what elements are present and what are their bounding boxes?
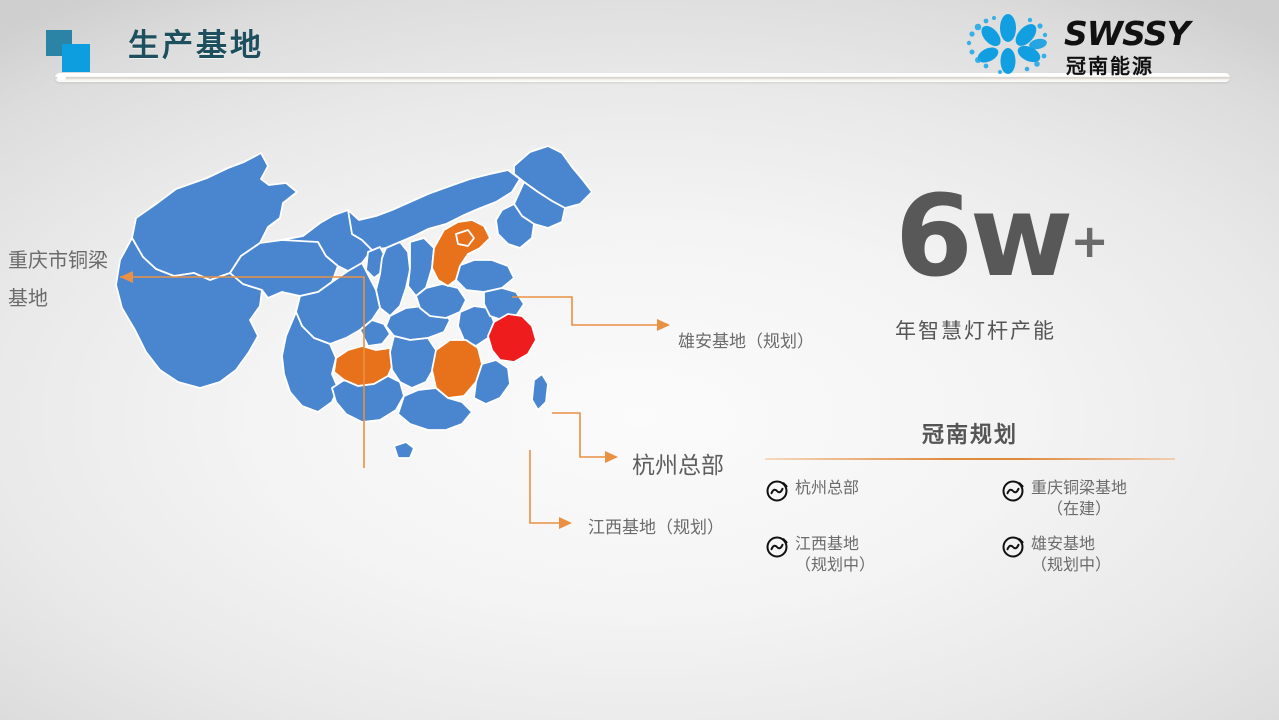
province-shandong	[456, 260, 514, 292]
legend-item-name: 江西基地	[795, 536, 859, 553]
legend-item-name: 重庆铜梁基地	[1031, 480, 1127, 497]
stat-plus-sign: +	[1070, 214, 1109, 268]
circle-wave-icon	[1001, 479, 1025, 503]
province-inner-mongolia	[348, 170, 520, 250]
circle-wave-icon	[765, 535, 789, 559]
legend-item-sub: （在建）	[1031, 499, 1127, 520]
legend-item-xiongan[interactable]: 雄安基地 （规划中）	[973, 534, 1175, 576]
legend-item-jiangxi[interactable]: 江西基地 （规划中）	[765, 534, 967, 576]
stat-number-row: 6w+	[895, 185, 1195, 293]
plan-legend-panel: 冠南规划 杭州总部 重庆铜梁基地 （在建）	[765, 420, 1175, 595]
legend-grid: 杭州总部 重庆铜梁基地 （在建） 江西基地 （规划中）	[765, 478, 1175, 576]
brand-logo: SWSSY 冠南能源	[960, 8, 1220, 80]
legend-item-text: 江西基地 （规划中）	[795, 534, 875, 576]
province-hainan	[394, 442, 414, 458]
legend-item-text: 杭州总部	[795, 478, 859, 499]
province-taiwan	[532, 374, 548, 410]
callout-label-hangzhou: 杭州总部	[632, 446, 724, 480]
stat-number: 6w	[895, 172, 1070, 302]
legend-item-text: 雄安基地 （规划中）	[1031, 534, 1111, 576]
water-droplet-flower-icon	[960, 12, 1056, 76]
legend-divider	[765, 458, 1175, 460]
legend-item-sub: （规划中）	[1031, 555, 1111, 576]
legend-item-sub: （规划中）	[795, 555, 875, 576]
legend-item-text: 重庆铜梁基地 （在建）	[1031, 478, 1127, 520]
legend-item-hangzhou[interactable]: 杭州总部	[765, 478, 967, 520]
circle-wave-icon	[765, 479, 789, 503]
china-map[interactable]	[110, 130, 670, 560]
capacity-stat: 6w+ 年智慧灯杆产能	[895, 185, 1195, 355]
circle-wave-icon	[1001, 535, 1025, 559]
legend-title: 冠南规划	[765, 420, 1175, 450]
legend-item-name: 雄安基地	[1031, 536, 1095, 553]
callout-label-chongqing: 重庆市铜梁基地	[8, 242, 118, 318]
china-map-svg[interactable]	[110, 130, 670, 560]
stat-caption: 年智慧灯杆产能	[895, 315, 1195, 345]
logo-subtitle: 冠南能源	[1066, 50, 1154, 79]
page-header: 生产基地 SWSSY 冠	[0, 0, 1279, 96]
province-zhejiang-headquarters	[488, 314, 536, 362]
logo-wordmark: SWSSY	[1064, 14, 1189, 53]
callout-label-xiongan: 雄安基地（规划）	[678, 327, 814, 352]
callout-label-jiangxi: 江西基地（规划）	[588, 513, 724, 538]
header-square-light	[62, 44, 90, 72]
legend-item-name: 杭州总部	[795, 480, 859, 497]
legend-item-chongqing[interactable]: 重庆铜梁基地 （在建）	[973, 478, 1175, 520]
page-title: 生产基地	[128, 26, 264, 66]
